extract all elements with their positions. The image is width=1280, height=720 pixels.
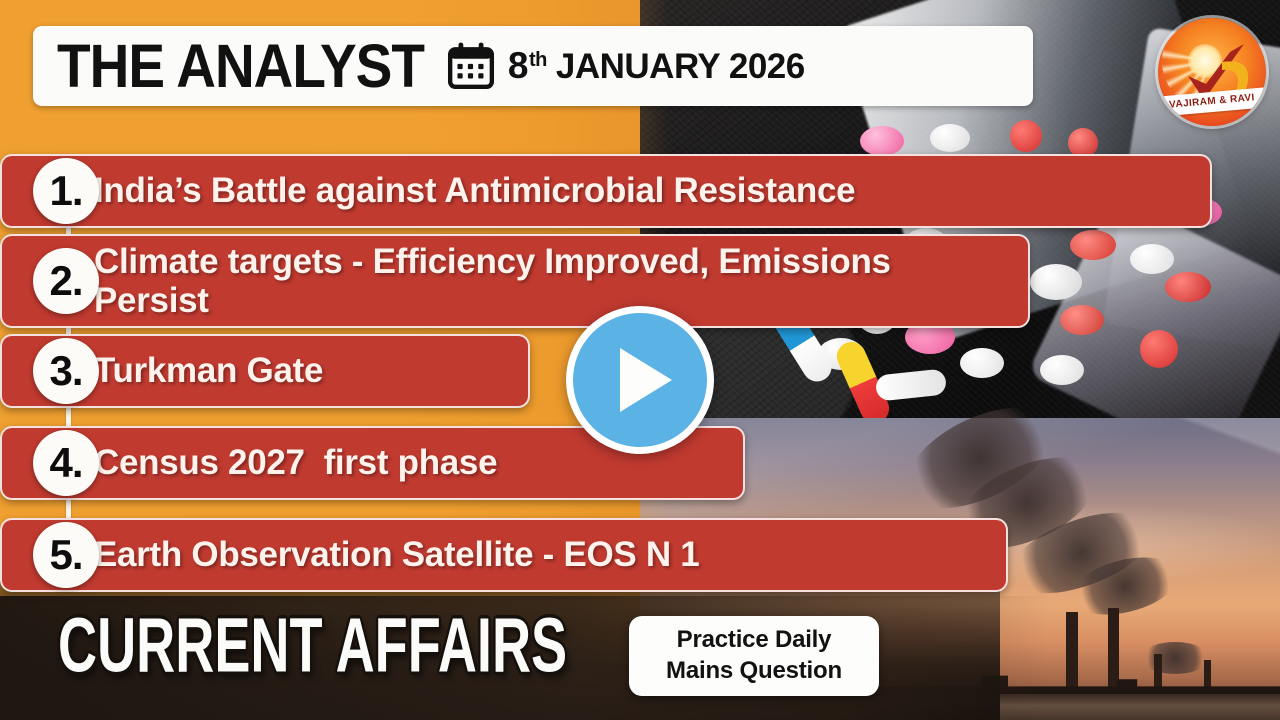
pill-image: [960, 348, 1004, 378]
pill-image: [1010, 120, 1042, 152]
list-item[interactable]: India’s Battle against Antimicrobial Res…: [0, 154, 1212, 228]
list-item[interactable]: Turkman Gate 3.: [0, 334, 530, 408]
list-item[interactable]: Climate targets - Efficiency Improved, E…: [0, 234, 1030, 328]
headline-text: India’s Battle against Antimicrobial Res…: [94, 171, 855, 210]
pill-image: [860, 126, 904, 156]
cta-line-1: Practice Daily: [677, 625, 832, 656]
calendar-icon: [446, 41, 496, 91]
list-item[interactable]: Earth Observation Satellite - EOS N 1 5.: [0, 518, 1008, 592]
headline-text: Earth Observation Satellite - EOS N 1: [94, 535, 699, 574]
list-number-badge: 3.: [33, 338, 99, 404]
date-day: 8: [508, 45, 528, 87]
pill-image: [1040, 355, 1084, 385]
date-label: 8thJANUARY 2026: [508, 45, 805, 87]
headline-text: Turkman Gate: [94, 351, 323, 390]
vajiram-and-ravi-logo: VAJIRAM & RAVI: [1158, 18, 1266, 126]
list-number-badge: 4.: [33, 430, 99, 496]
date-ordinal-suffix: th: [529, 49, 547, 72]
header-card: THE ANALYST 8thJANUARY 2026: [33, 26, 1033, 106]
play-triangle-icon: [620, 348, 672, 412]
practice-question-badge[interactable]: Practice Daily Mains Question: [629, 616, 879, 696]
pill-image: [1130, 244, 1174, 274]
headline-bar[interactable]: Earth Observation Satellite - EOS N 1: [0, 518, 1008, 592]
headline-text: Census 2027 first phase: [94, 443, 497, 482]
headline-bar[interactable]: Climate targets - Efficiency Improved, E…: [0, 234, 1030, 328]
list-number-badge: 2.: [33, 248, 99, 314]
pill-image: [1140, 330, 1178, 368]
page-title: THE ANALYST: [57, 35, 424, 97]
pill-image: [1030, 264, 1082, 300]
list-number-badge: 1.: [33, 158, 99, 224]
pill-image: [1060, 305, 1104, 335]
pill-image: [930, 124, 970, 152]
footer-title: CURRENT AFFAIRS: [58, 607, 567, 684]
date-month-year: JANUARY 2026: [556, 47, 805, 87]
list-number-badge: 5.: [33, 522, 99, 588]
play-button[interactable]: [566, 306, 714, 454]
headline-bar[interactable]: India’s Battle against Antimicrobial Res…: [0, 154, 1212, 228]
cta-line-2: Mains Question: [666, 656, 842, 687]
pill-image: [1070, 230, 1116, 260]
pill-image: [1165, 272, 1211, 302]
headline-text: Climate targets - Efficiency Improved, E…: [94, 242, 999, 320]
thumbnail-canvas: THE ANALYST 8thJANUARY 2026: [0, 0, 1280, 720]
